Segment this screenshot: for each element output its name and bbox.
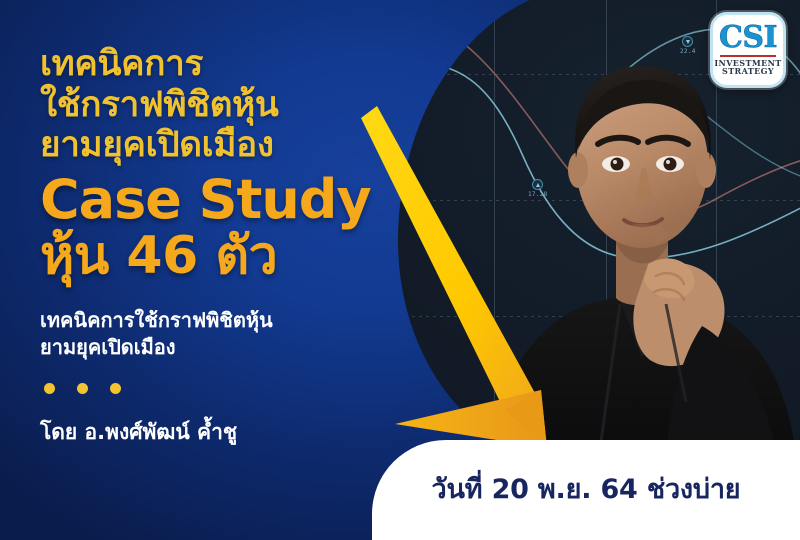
subtitle-line-1: เทคนิคการใช้กราฟพิชิตหุ้น bbox=[40, 307, 440, 334]
subtitle: เทคนิคการใช้กราฟพิชิตหุ้น ยามยุคเปิดเมือ… bbox=[40, 307, 440, 361]
headline: เทคนิคการ ใช้กราฟพิชิตหุ้น ยามยุคเปิดเมื… bbox=[40, 44, 440, 166]
headline-line-1: เทคนิคการ bbox=[40, 44, 440, 85]
csi-logo[interactable]: CSI INVESTMENT STRATEGY bbox=[710, 12, 786, 88]
speaker-byline: โดย อ.พงศ์พัฒน์ ค้ำชู bbox=[40, 416, 440, 449]
subtitle-line-2: ยามยุคเปิดเมือง bbox=[40, 334, 440, 361]
date-panel: วันที่ 20 พ.ย. 64 ช่วงบ่าย bbox=[372, 440, 800, 540]
csi-logo-subtitle-2: STRATEGY bbox=[722, 67, 774, 75]
promo-banner: 22.4 17.28 bbox=[0, 0, 800, 540]
csi-logo-divider bbox=[720, 55, 776, 57]
stock-count-title: หุ้น 46 ตัว bbox=[40, 228, 440, 285]
dot-1 bbox=[44, 383, 55, 394]
case-study-title: Case Study bbox=[40, 172, 440, 228]
headline-line-3: ยามยุคเปิดเมือง bbox=[40, 125, 440, 166]
dot-3 bbox=[110, 383, 121, 394]
csi-logo-title: CSI bbox=[719, 24, 777, 53]
copy-block: เทคนิคการ ใช้กราฟพิชิตหุ้น ยามยุคเปิดเมื… bbox=[40, 44, 440, 449]
headline-line-2: ใช้กราฟพิชิตหุ้น bbox=[40, 85, 440, 126]
date-text: วันที่ 20 พ.ย. 64 ช่วงบ่าย bbox=[432, 467, 741, 514]
dot-separator bbox=[40, 383, 440, 394]
dot-2 bbox=[77, 383, 88, 394]
